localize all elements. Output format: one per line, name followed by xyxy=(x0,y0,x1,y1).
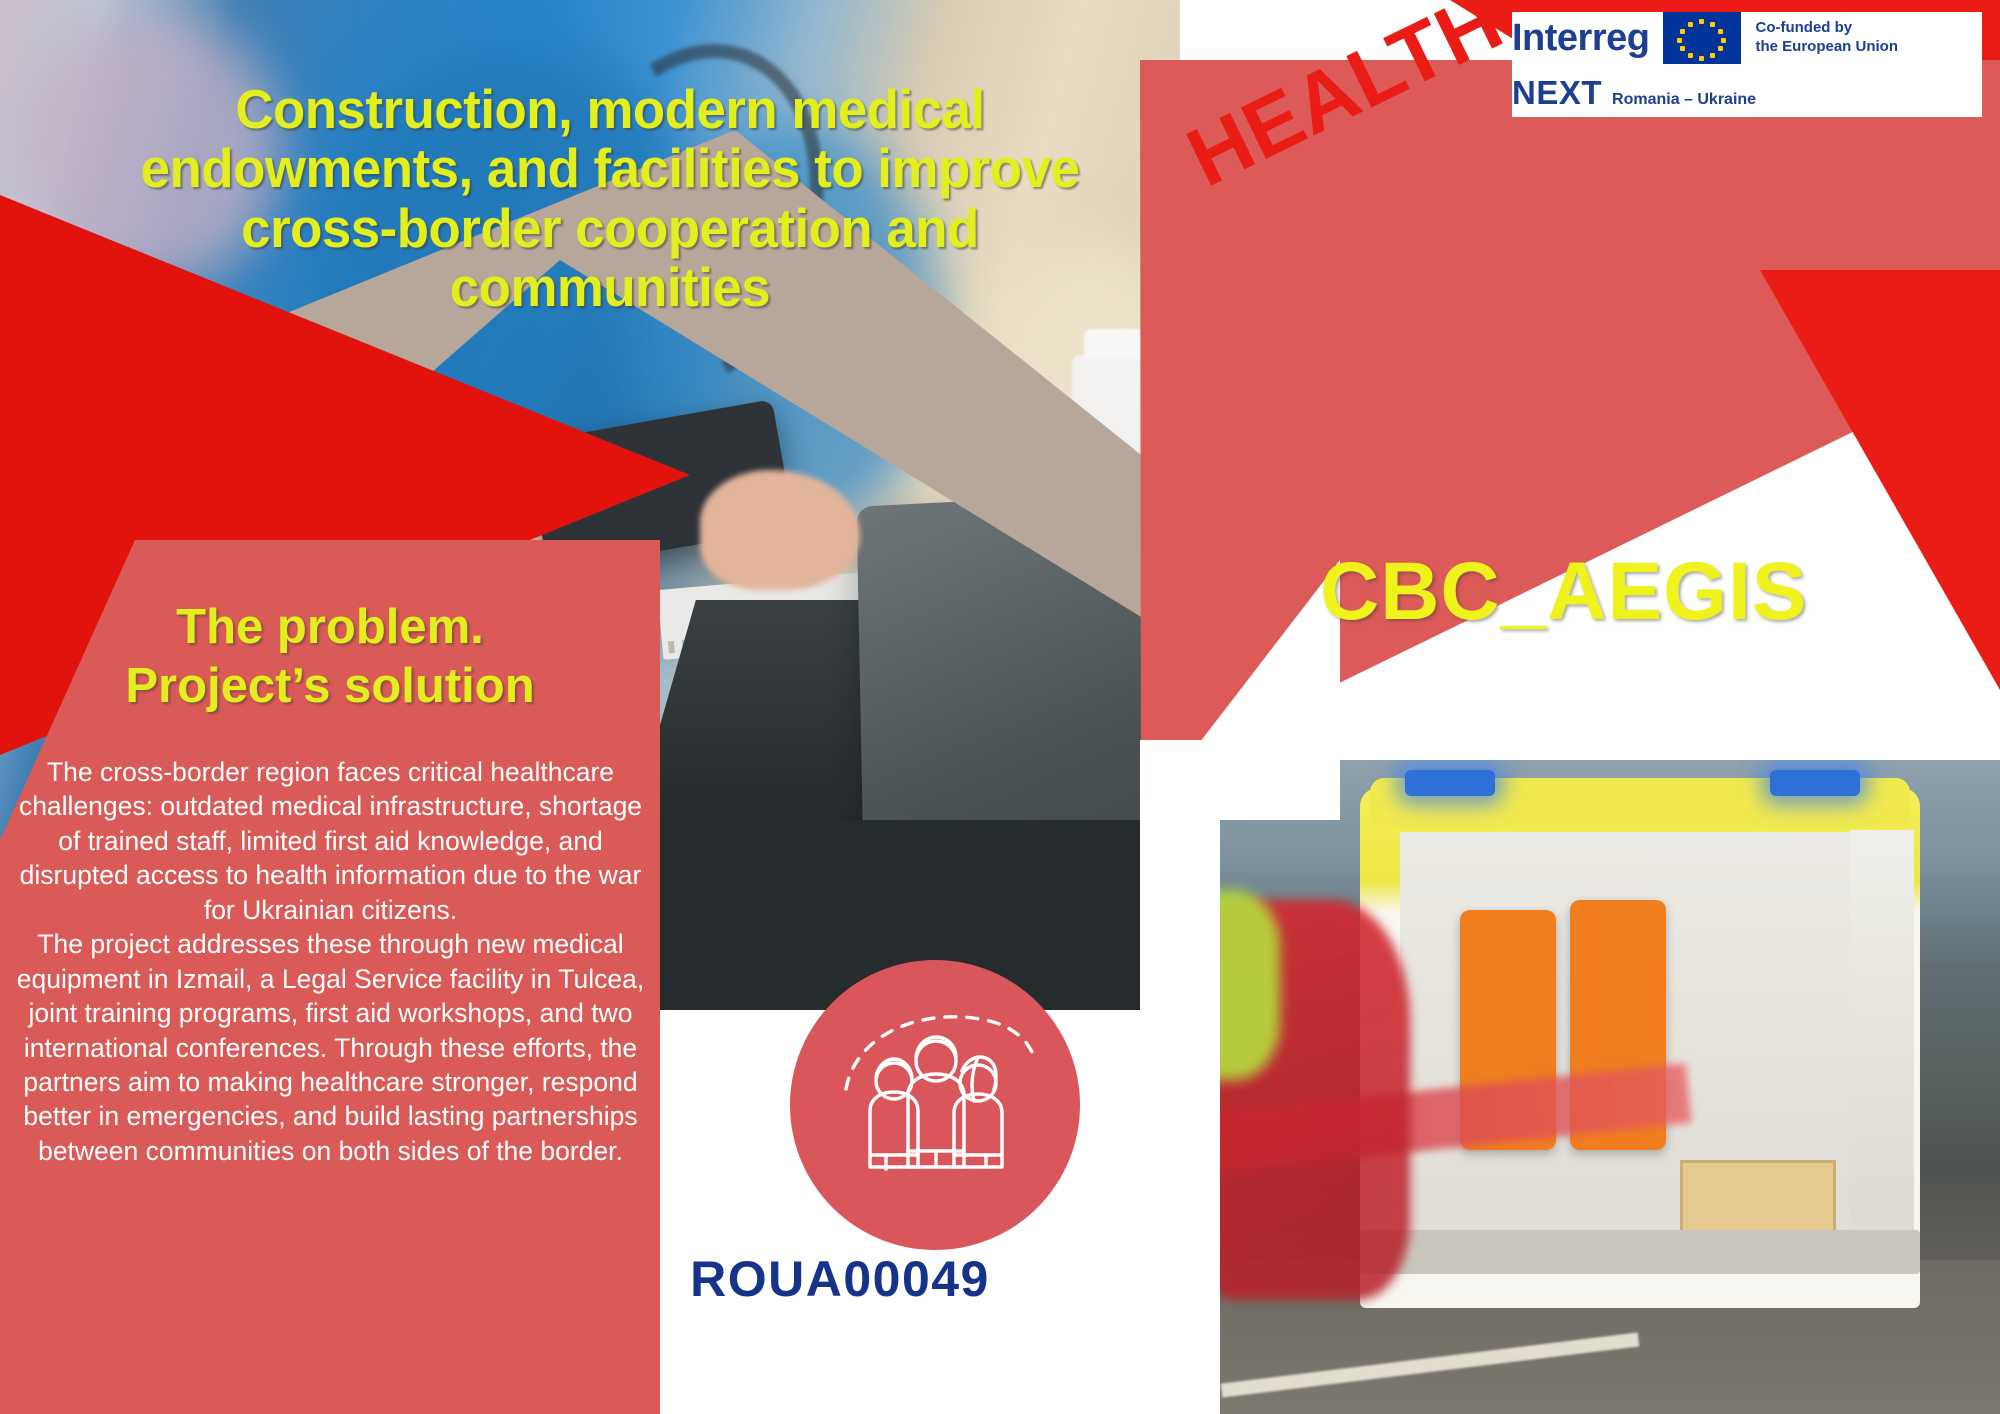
emergency-light-icon xyxy=(1770,770,1860,796)
page-title: Construction, modern medical endowments,… xyxy=(116,80,1105,318)
eu-funding-line-2: the European Union xyxy=(1755,38,1898,55)
ambulance-emergency-photo xyxy=(1210,760,2000,1414)
problem-heading-line-2: Project’s solution xyxy=(20,657,640,716)
ambulance-door-shape xyxy=(1850,830,1914,1260)
eu-funding-text: Co-funded by the European Union xyxy=(1755,19,1898,57)
problem-section-body: The cross-border region faces critical h… xyxy=(8,755,653,1168)
eu-funding-line-1: Co-funded by xyxy=(1755,19,1852,36)
programme-name: Romania – Ukraine xyxy=(1612,91,1756,109)
ambulance-bumper-shape xyxy=(1360,1230,1920,1274)
project-code: ROUA00049 xyxy=(600,1250,1080,1308)
interreg-next-logo: Interreg Co-funded by the European Union… xyxy=(1512,12,1982,117)
next-wordmark: NEXT xyxy=(1512,74,1602,112)
problem-heading-line-1: The problem. xyxy=(20,598,640,657)
eu-flag-icon xyxy=(1663,12,1741,64)
problem-section-heading: The problem. Project’s solution xyxy=(20,598,640,716)
people-group-glyph xyxy=(830,1005,1040,1205)
project-infographic-poster: Interreg Co-funded by the European Union… xyxy=(0,0,2000,1414)
interreg-wordmark: Interreg xyxy=(1512,17,1649,60)
logo-bottom-row: NEXT Romania – Ukraine xyxy=(1512,74,1756,112)
project-acronym: CBC_AEGIS xyxy=(1320,545,1807,639)
logo-top-row: Interreg Co-funded by the European Union xyxy=(1512,12,1898,64)
hi-vis-vest-blur xyxy=(1210,890,1280,1080)
white-vertical-gutter xyxy=(1140,740,1220,1414)
people-group-icon xyxy=(790,960,1080,1250)
emergency-light-icon xyxy=(1405,770,1495,796)
